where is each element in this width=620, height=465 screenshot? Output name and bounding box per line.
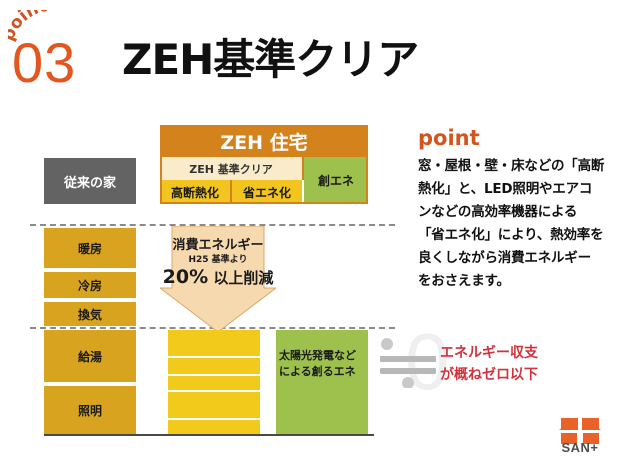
consumption-segment-5 <box>168 420 260 434</box>
slide-canvas: point 03 ZEH基準クリア 従来の家 暖房 冷房 換気 給湯 照明 ZE… <box>0 0 620 465</box>
consumption-segment-4 <box>168 392 260 418</box>
legacy-house-header: 従来の家 <box>44 158 136 204</box>
generation-bar-label: 太陽光発電など による創るエネ <box>276 348 368 380</box>
balance-note-line2: が概ねゼロ以下 <box>440 364 620 386</box>
zeh-house-header: ZEH 住宅 <box>160 125 368 157</box>
arrow-line-reduction: 20% 以上削減 <box>160 267 276 288</box>
legacy-block-ventilation: 換気 <box>44 302 136 326</box>
body-line-3: ンなどの高効率機器による <box>418 201 608 224</box>
consumption-segment-1 <box>168 330 260 356</box>
energy-balance-note: エネルギー収支 が概ねゼロ以下 <box>440 342 620 386</box>
zeh-standard-clear-band: ZEH 基準クリア <box>160 157 304 180</box>
arrow-reduction-suffix: 以上削減 <box>208 269 273 287</box>
legacy-block-hotwater: 給湯 <box>44 330 136 382</box>
generation-label-line2: による創るエネ <box>279 364 368 380</box>
body-line-1: 窓・屋根・壁・床などの「高断 <box>418 155 608 178</box>
balance-note-line1: エネルギー収支 <box>440 342 620 364</box>
consumption-segment-3 <box>168 376 260 390</box>
consumption-segment-2 <box>168 358 260 374</box>
arrow-line-consumption: 消費エネルギー <box>160 238 276 254</box>
generation-label-line1: 太陽光発電など <box>279 348 368 364</box>
generation-bar <box>276 330 368 435</box>
body-line-4: 「省エネ化」により、熱効率を <box>418 224 608 247</box>
chart-baseline <box>44 434 374 436</box>
zeh-cell-insulation: 高断熱化 <box>160 180 232 204</box>
point-number: 03 <box>12 35 76 91</box>
legacy-block-heating: 暖房 <box>44 228 136 268</box>
arrow-reduction-value: 20% <box>163 266 208 288</box>
approximately-equal-icon <box>378 336 436 388</box>
reduction-arrow-text: 消費エネルギー H25 基準より 20% 以上削減 <box>160 238 276 288</box>
right-point-heading: point <box>418 126 480 150</box>
body-line-6: をおさえます。 <box>418 270 608 293</box>
body-line-2: 熱化」と、LED照明やエアコ <box>418 178 608 201</box>
zeh-cell-energy-saving: 省エネ化 <box>232 180 302 204</box>
zeh-cell-energy-creation: 創エネ <box>304 157 368 204</box>
right-point-body: 窓・屋根・壁・床などの「高断 熱化」と、LED照明やエアコ ンなどの高効率機器に… <box>418 155 608 293</box>
legacy-block-cooling: 冷房 <box>44 272 136 298</box>
logo-wordmark: SAN+ <box>552 440 608 455</box>
legacy-block-lighting: 照明 <box>44 386 136 434</box>
body-line-5: 良くしながら消費エネルギー <box>418 247 608 270</box>
page-title: ZEH基準クリア <box>122 36 418 84</box>
